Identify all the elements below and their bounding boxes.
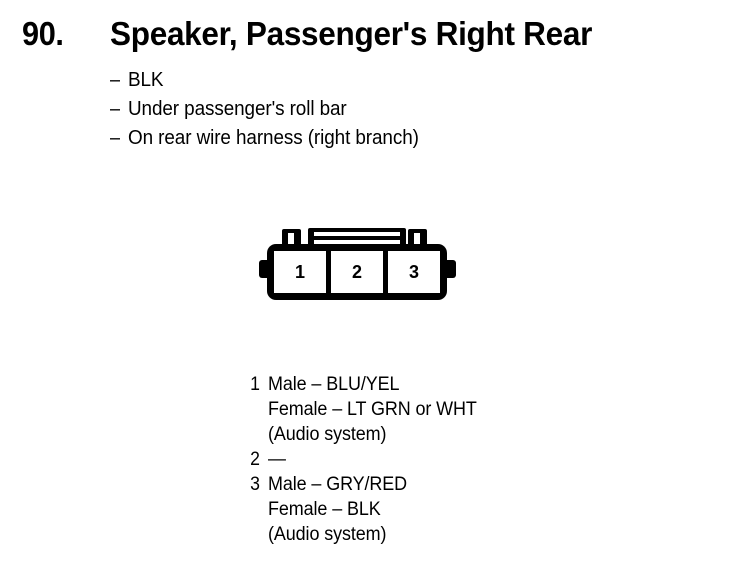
pin-line: 3 Male – GRY/RED [244, 472, 664, 497]
connector-housing: 1 2 3 [267, 244, 447, 300]
pin-line: Female – BLK [244, 497, 664, 522]
cavity-number-label: 3 [409, 263, 419, 281]
pin-line: 1 Male – BLU/YEL [244, 372, 664, 397]
item-number: 90. [22, 14, 64, 54]
cavity-number-label: 2 [352, 263, 362, 281]
note-text: Under passenger's roll bar [128, 95, 347, 124]
side-notch-right-icon [446, 260, 456, 278]
pin-assignment-list: 1 Male – BLU/YEL Female – LT GRN or WHT … [244, 372, 664, 547]
connector-cavity-2: 2 [326, 251, 383, 293]
connector-cavity-3: 3 [383, 251, 440, 293]
pin-detail-text: Female – LT GRN or WHT [268, 397, 477, 422]
pin-number-label: 2 [245, 447, 260, 472]
pin-detail-text: — [268, 447, 286, 472]
pin-line: (Audio system) [244, 522, 664, 547]
pin-detail-text: (Audio system) [268, 522, 386, 547]
page-title: Speaker, Passenger's Right Rear [110, 14, 592, 54]
pin-detail-text: Female – BLK [268, 497, 381, 522]
pin-line: (Audio system) [244, 422, 664, 447]
dash-bullet-icon: – [110, 124, 120, 153]
pin-detail-text: Male – GRY/RED [268, 472, 407, 497]
note-text: BLK [128, 66, 163, 95]
note-item: – Under passenger's roll bar [110, 95, 670, 124]
connector-cavity-1: 1 [274, 251, 326, 293]
dash-bullet-icon: – [110, 66, 120, 95]
pin-entry-1: 1 Male – BLU/YEL Female – LT GRN or WHT … [244, 372, 664, 447]
pin-entry-2: 2 — [244, 447, 664, 472]
pin-line: 2 — [244, 447, 664, 472]
note-item: – BLK [110, 66, 670, 95]
pin-detail-text: (Audio system) [268, 422, 386, 447]
page-header: 90. Speaker, Passenger's Right Rear [0, 14, 752, 58]
cavity-row: 1 2 3 [274, 251, 440, 293]
pin-number-label: 1 [245, 372, 260, 397]
dash-bullet-icon: – [110, 95, 120, 124]
cavity-number-label: 1 [295, 263, 305, 281]
pin-line: Female – LT GRN or WHT [244, 397, 664, 422]
pin-entry-3: 3 Male – GRY/RED Female – BLK (Audio sys… [244, 472, 664, 547]
connector-diagram: 1 2 3 [258, 228, 458, 308]
note-text: On rear wire harness (right branch) [128, 124, 419, 153]
note-list: – BLK – Under passenger's roll bar – On … [110, 66, 670, 153]
pin-detail-text: Male – BLU/YEL [268, 372, 399, 397]
pin-number-label: 3 [245, 472, 260, 497]
note-item: – On rear wire harness (right branch) [110, 124, 670, 153]
